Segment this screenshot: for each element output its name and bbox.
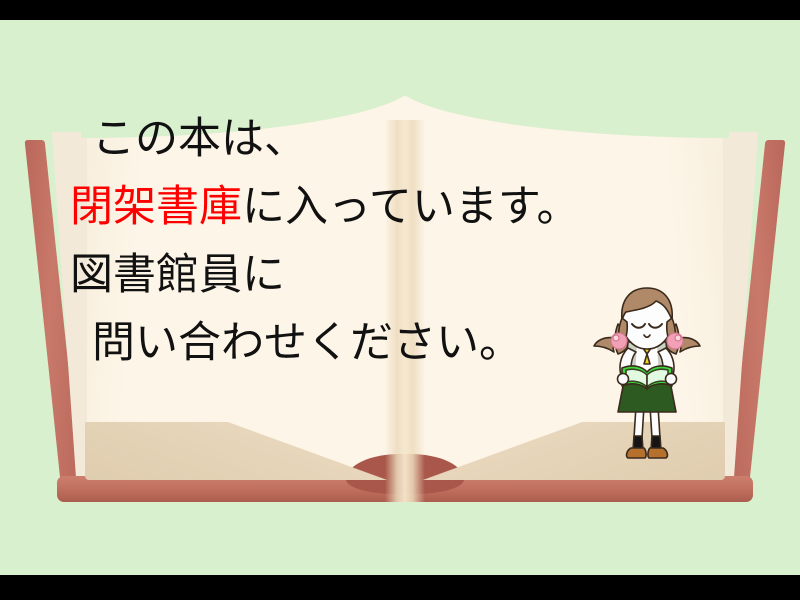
message-line-1: この本は、: [70, 105, 690, 173]
page-bottom-edge-left: [85, 422, 415, 480]
message-line-3-text: 図書館員に: [70, 251, 285, 299]
message-line-4-text: 問い合わせください。: [92, 319, 522, 367]
message-line-1-text: この本は、: [92, 115, 307, 163]
closed-stacks-highlight: 閉架書庫: [70, 183, 242, 231]
letterbox-bar-top: [0, 0, 800, 20]
screenshot-canvas: この本は、 閉架書庫に入っています。 図書館員に 問い合わせください。: [0, 0, 800, 600]
girl-reading-illustration: [592, 280, 702, 465]
message-line-2-rest: に入っています。: [242, 183, 580, 231]
letterbox-bar-bottom: [0, 575, 800, 600]
message-line-2: 閉架書庫に入っています。: [70, 173, 690, 241]
